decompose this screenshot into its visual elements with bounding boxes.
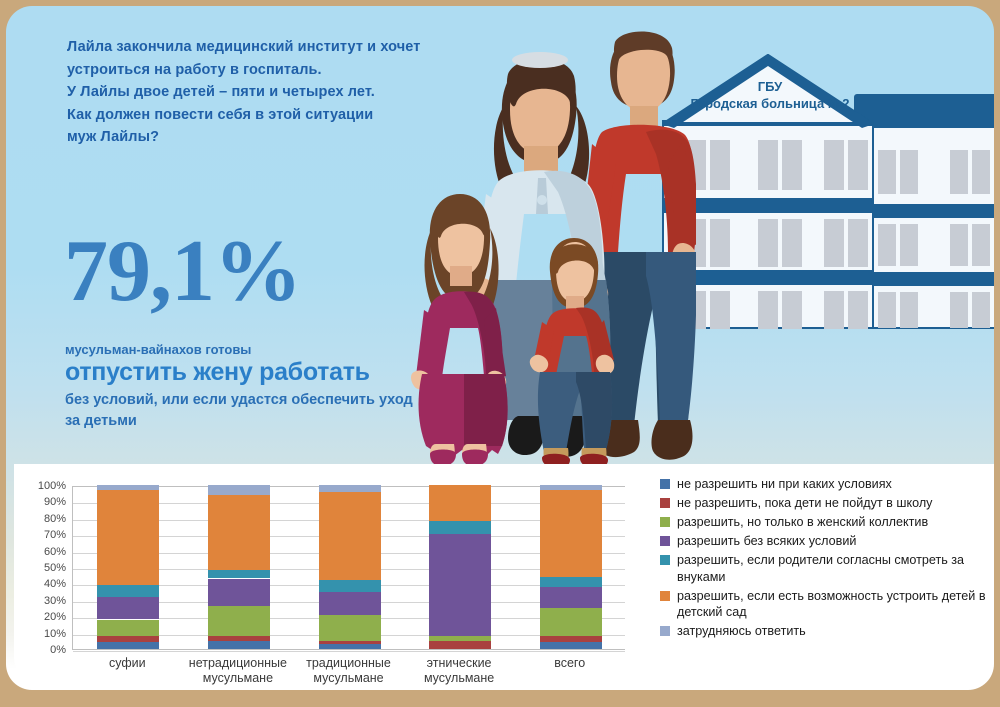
bar-segment[interactable] [208,495,270,570]
hospital-window [950,292,968,328]
legend-label: не разрешить ни при каких условиях [677,476,892,493]
legend-label: затрудняюсь ответить [677,623,806,640]
legend-item[interactable]: разрешить без всяких условий [660,533,990,550]
bar-segment[interactable] [319,641,381,644]
hospital-window [972,224,990,266]
x-axis-tick-label: нетрадиционные мусульмане [178,656,298,686]
x-axis-tick-label: суфии [67,656,187,671]
legend-item[interactable]: не разрешить, пока дети не пойдут в школ… [660,495,990,512]
bar-segment[interactable] [540,608,602,636]
y-axis-tick-label: 90% [26,496,66,508]
legend-swatch-icon [660,591,670,601]
poster-card: Лайла закончила медицинский институт и х… [6,6,994,690]
hospital-band [860,204,994,218]
y-axis-tick-label: 70% [26,529,66,541]
hospital-window [782,219,802,267]
hospital-window [758,140,778,190]
y-axis-tick-label: 60% [26,546,66,558]
legend-label: разрешить, но только в женский коллектив [677,514,928,531]
y-axis-tick-label: 0% [26,644,66,656]
y-axis-tick-label: 50% [26,562,66,574]
headline-percentage: 79,1% [64,228,301,316]
bar-segment[interactable] [540,490,602,577]
bar-segment[interactable] [97,585,159,596]
bar-segment[interactable] [97,642,159,649]
hospital-sign-line-2: Городская больница №2 [676,95,864,112]
hospital-band [860,272,994,286]
bar-segment[interactable] [97,597,159,620]
stacked-bar-chart: 100%90%80%70%60%50%40%30%20%10%0% суфиин… [26,478,636,653]
bar-segment[interactable] [540,485,602,490]
hospital-window [972,150,990,194]
legend-item[interactable]: разрешить, если есть возможность устроит… [660,588,990,621]
bar-segment[interactable] [208,641,270,649]
bar-segment[interactable] [429,521,491,534]
stat-subtitle-3: без условий, или если удастся обеспечить… [65,390,425,432]
bar-segment[interactable] [97,636,159,643]
bar-stack[interactable] [319,485,381,649]
hospital-window [900,292,918,328]
bar-segment[interactable] [319,492,381,581]
hospital-sign: ГБУ Городская больница №2 [676,78,864,112]
hospital-roof-right [854,94,994,130]
bar-segment[interactable] [208,606,270,636]
legend-swatch-icon [660,536,670,546]
hospital-window [900,150,918,194]
stat-subtitle-1: мусульман-вайнахов готовы [65,342,251,357]
hospital-window [950,224,968,266]
bar-segment[interactable] [319,592,381,615]
bar-stack[interactable] [97,485,159,649]
bar-segment[interactable] [97,485,159,490]
hospital-window [710,219,730,267]
hospital-window [848,219,868,267]
bar-segment[interactable] [540,577,602,587]
bar-segment[interactable] [540,636,602,643]
legend-swatch-icon [660,479,670,489]
legend-label: разрешить без всяких условий [677,533,856,550]
bar-segment[interactable] [540,642,602,649]
hospital-sign-line-1: ГБУ [676,78,864,95]
hospital-window [900,224,918,266]
legend-label: разрешить, если есть возможность устроит… [677,588,990,621]
x-axis-tick-label: этнические мусульмане [399,656,519,686]
legend-item[interactable]: не разрешить ни при каких условиях [660,476,990,493]
legend-label: разрешить, если родители согласны смотре… [677,552,990,585]
hospital-window [848,291,868,329]
gridline [73,651,625,652]
bar-segment[interactable] [429,636,491,641]
y-axis-tick-label: 40% [26,578,66,590]
hospital-window [824,219,844,267]
bar-segment[interactable] [208,579,270,607]
bar-segment[interactable] [429,534,491,636]
chart-plot-area [72,486,625,650]
infographic-poster: Лайла закончила медицинский институт и х… [0,0,1000,707]
hospital-window [972,292,990,328]
legend-label: не разрешить, пока дети не пойдут в школ… [677,495,932,512]
bar-segment[interactable] [97,620,159,636]
legend-item[interactable]: разрешить, если родители согласны смотре… [660,552,990,585]
bar-stack[interactable] [208,485,270,649]
y-axis-tick-label: 80% [26,513,66,525]
bar-segment[interactable] [208,485,270,495]
bar-segment[interactable] [429,641,491,649]
hospital-window [824,291,844,329]
hospital-building-illustration: ГБУ Городская больница №2 [654,54,994,329]
bar-segment[interactable] [319,485,381,492]
legend-swatch-icon [660,517,670,527]
hospital-window [758,291,778,329]
chart-panel: 100%90%80%70%60%50%40%30%20%10%0% суфиин… [14,464,994,680]
y-axis-tick-label: 100% [26,480,66,492]
hospital-window [758,219,778,267]
bar-segment[interactable] [208,636,270,641]
bar-stack[interactable] [429,485,491,649]
x-axis-tick-label: всего [510,656,630,671]
hospital-window [878,150,896,194]
bar-segment[interactable] [319,644,381,649]
hospital-window [782,291,802,329]
bar-segment[interactable] [208,570,270,578]
bar-stack[interactable] [540,485,602,649]
y-axis-tick-label: 20% [26,611,66,623]
hospital-window [878,224,896,266]
legend-item[interactable]: затрудняюсь ответить [660,623,990,640]
legend-swatch-icon [660,555,670,565]
hospital-window [950,150,968,194]
hospital-wing-right [860,126,994,329]
bar-segment[interactable] [319,615,381,641]
hospital-window [710,291,730,329]
hospital-window [878,292,896,328]
y-axis-tick-label: 30% [26,595,66,607]
hospital-window [824,140,844,190]
bar-segment[interactable] [319,580,381,591]
bar-segment[interactable] [540,587,602,608]
x-axis-tick-label: традиционные мусульмане [289,656,409,686]
y-axis-tick-label: 10% [26,628,66,640]
hospital-window [710,140,730,190]
legend-swatch-icon [660,498,670,508]
legend-swatch-icon [660,626,670,636]
hospital-window [848,140,868,190]
legend-item[interactable]: разрешить, но только в женский коллектив [660,514,990,531]
stat-subtitle-2: отпустить жену работать [65,358,370,387]
hospital-window [782,140,802,190]
chart-legend: не разрешить ни при каких условияхне раз… [660,476,990,642]
bar-segment[interactable] [429,485,491,521]
family-illustration [406,14,696,466]
bar-segment[interactable] [97,490,159,585]
